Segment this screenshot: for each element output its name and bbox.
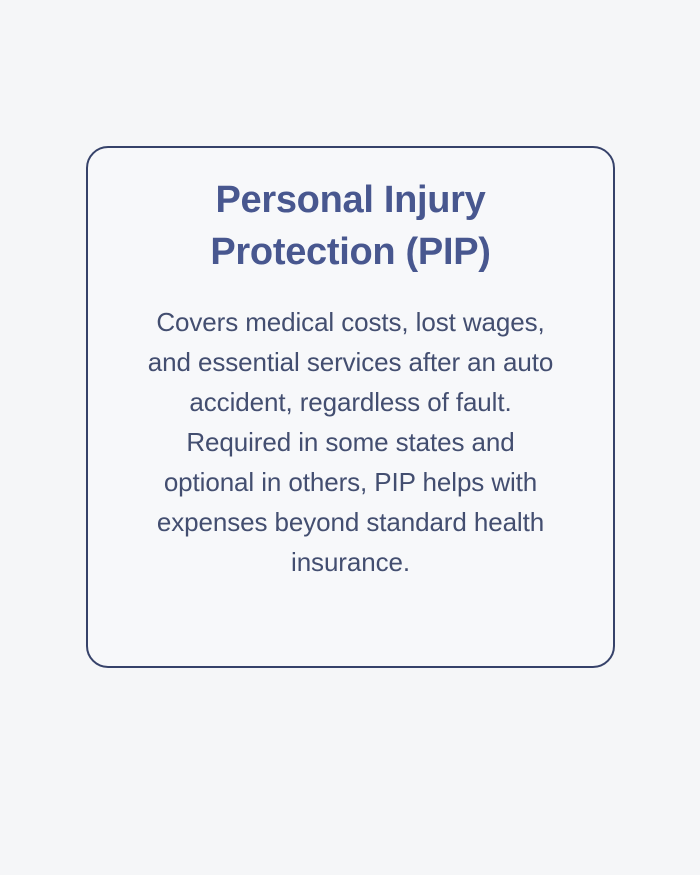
card-title: Personal Injury Protection (PIP): [147, 174, 555, 278]
card-description: Covers medical costs, lost wages, and es…: [141, 302, 561, 582]
insurance-info-card: Personal Injury Protection (PIP) Covers …: [86, 146, 615, 668]
page-canvas: Personal Injury Protection (PIP) Covers …: [0, 0, 700, 875]
